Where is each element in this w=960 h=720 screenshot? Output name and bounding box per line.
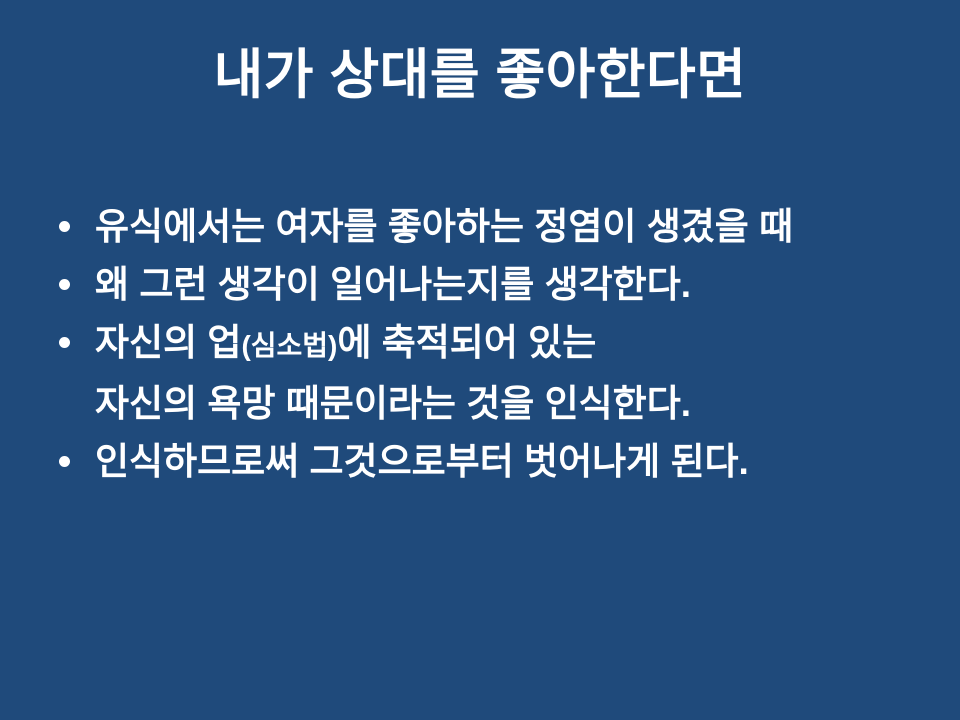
bullet-dot-icon: [59, 221, 70, 232]
presentation-slide: 내가 상대를 좋아한다면 유식에서는 여자를 좋아하는 정염이 생겼을 때 왜 …: [0, 0, 960, 720]
bullet-dot-icon: [59, 456, 70, 467]
list-item: 인식하므로써 그것으로부터 벗어나게 된다.: [50, 433, 920, 491]
list-item-label-after: 에 축적되어 있는: [337, 322, 596, 363]
list-item-label-before: 자신의 업: [95, 322, 241, 363]
list-item: 자신의 업(심소법)에 축적되어 있는: [50, 314, 920, 375]
bullet-dot-icon: [59, 279, 70, 290]
list-item: 왜 그런 생각이 일어나는지를 생각한다.: [50, 256, 920, 314]
list-item-label: 유식에서는 여자를 좋아하는 정염이 생겼을 때: [95, 198, 920, 256]
list-item: 유식에서는 여자를 좋아하는 정염이 생겼을 때: [50, 198, 920, 256]
list-item-label: 자신의 욕망 때문이라는 것을 인식한다.: [95, 375, 920, 433]
list-item-continuation: 자신의 욕망 때문이라는 것을 인식한다.: [50, 375, 920, 433]
page-title: 내가 상대를 좋아한다면: [0, 44, 960, 108]
list-item-label: 인식하므로써 그것으로부터 벗어나게 된다.: [95, 433, 920, 491]
bullet-dot-icon: [59, 337, 70, 348]
list-item-label: 왜 그런 생각이 일어나는지를 생각한다.: [95, 256, 920, 314]
list-item-label-parenthetical: (심소법): [241, 330, 337, 361]
list-item-label: 자신의 업(심소법)에 축적되어 있는: [95, 314, 920, 375]
bullet-list: 유식에서는 여자를 좋아하는 정염이 생겼을 때 왜 그런 생각이 일어나는지를…: [50, 198, 920, 491]
